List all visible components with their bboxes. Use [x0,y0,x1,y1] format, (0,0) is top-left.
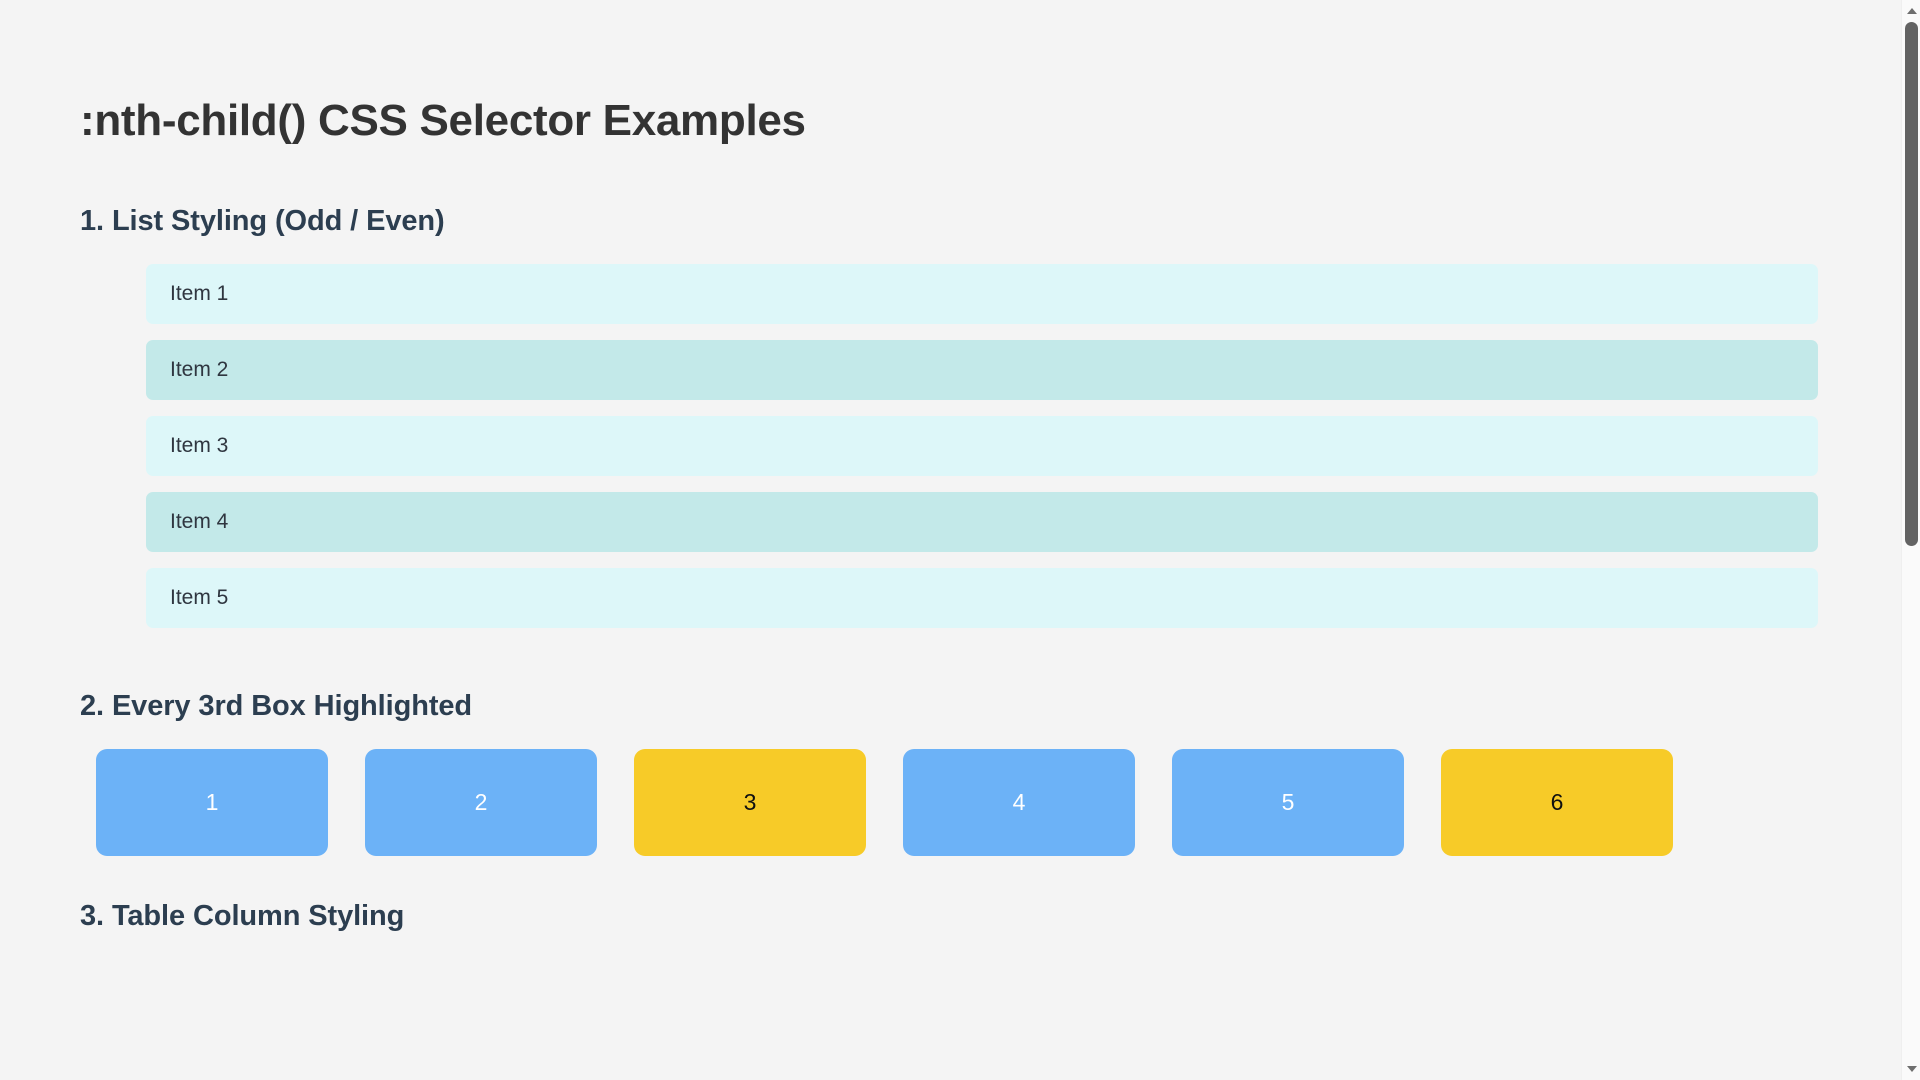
page-content: :nth-child() CSS Selector Examples 1. Li… [0,0,1901,933]
triangle-up-icon[interactable] [1902,2,1920,20]
list-item-label: Item 2 [170,358,228,382]
list-item[interactable]: Item 3 [146,416,1818,476]
triangle-down-icon[interactable] [1902,1060,1920,1078]
list-item-label: Item 4 [170,510,228,534]
demo-box[interactable]: 5 [1172,749,1404,856]
demo-box-label: 4 [1013,789,1026,816]
list-item-label: Item 5 [170,586,228,610]
demo-box-label: 5 [1282,789,1295,816]
page-root: :nth-child() CSS Selector Examples 1. Li… [0,0,1920,1080]
list-item[interactable]: Item 2 [146,340,1818,400]
demo-box[interactable]: 4 [903,749,1135,856]
demo-box[interactable]: 2 [365,749,597,856]
list-item-label: Item 3 [170,434,228,458]
section-heading-every-third-box: 2. Every 3rd Box Highlighted [80,690,1901,723]
browser-viewport: :nth-child() CSS Selector Examples 1. Li… [0,0,1901,1080]
demo-box-label: 3 [744,789,757,816]
vertical-scrollbar[interactable] [1901,0,1920,1080]
demo-box-highlighted[interactable]: 3 [634,749,866,856]
demo-box[interactable]: 1 [96,749,328,856]
list-item[interactable]: Item 4 [146,492,1818,552]
section-heading-list-styling: 1. List Styling (Odd / Even) [80,205,1901,238]
scrollbar-thumb[interactable] [1905,22,1918,546]
list-item-label: Item 1 [170,282,228,306]
section-heading-table-column-styling: 3. Table Column Styling [80,900,1901,933]
demo-box-label: 2 [475,789,488,816]
demo-box-label: 1 [206,789,219,816]
list-item[interactable]: Item 5 [146,568,1818,628]
box-row: 1 2 3 4 5 6 [96,749,1901,856]
demo-list: Item 1 Item 2 Item 3 Item 4 Item 5 [146,264,1818,628]
list-item[interactable]: Item 1 [146,264,1818,324]
section-every-third-box: 2. Every 3rd Box Highlighted 1 2 3 4 [80,690,1901,856]
page-title: :nth-child() CSS Selector Examples [80,96,1901,147]
demo-box-label: 6 [1551,789,1564,816]
demo-box-highlighted[interactable]: 6 [1441,749,1673,856]
section-table-column-styling: 3. Table Column Styling [80,900,1901,933]
section-list-styling: 1. List Styling (Odd / Even) Item 1 Item… [80,205,1901,628]
